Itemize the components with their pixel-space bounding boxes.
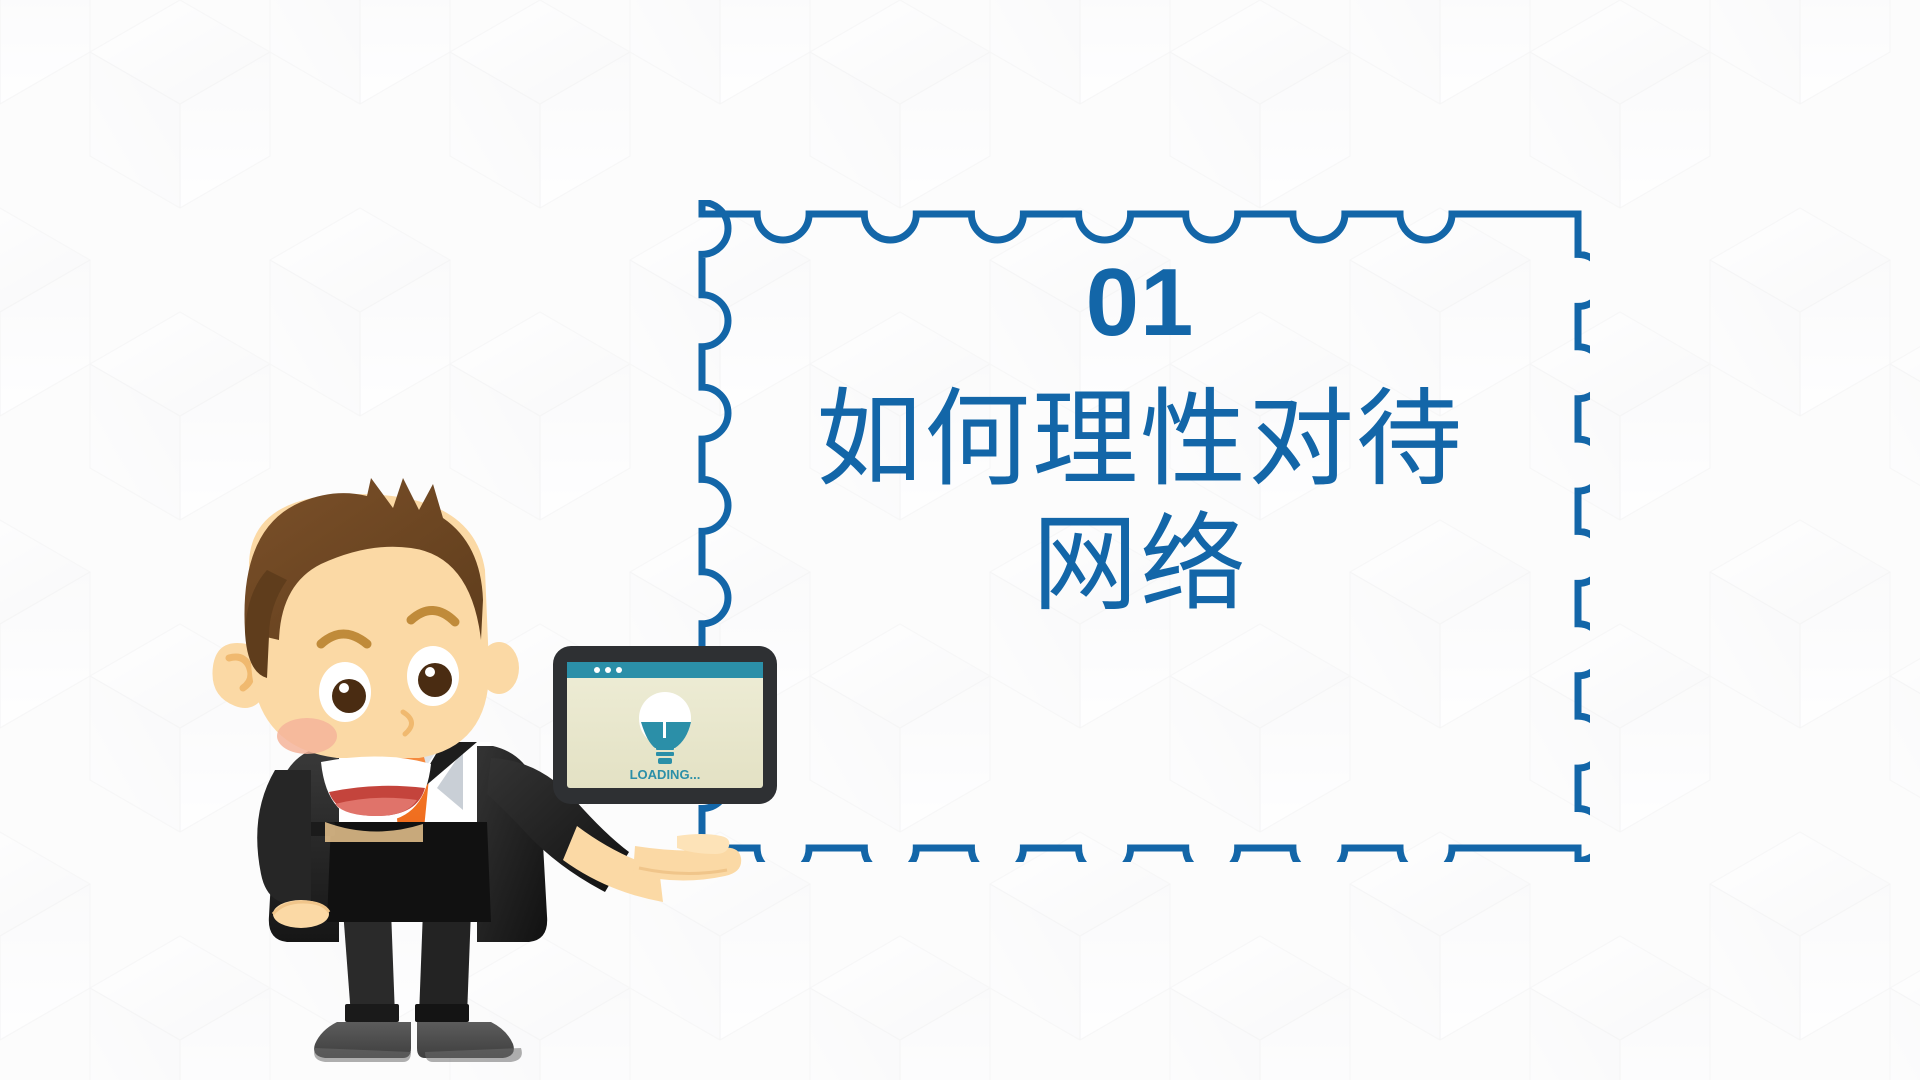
loading-label: LOADING... (630, 767, 701, 782)
browser-dot-icon (605, 667, 611, 673)
eye-left (319, 662, 371, 722)
blush-left (277, 718, 337, 754)
presentation-slide: 01 如何理性对待网络 (0, 0, 1920, 1080)
browser-dot-icon (594, 667, 600, 673)
eye-right (407, 646, 459, 706)
businessman-illustration: LOADING... (205, 470, 825, 1080)
shoes (314, 1022, 522, 1062)
legs (343, 910, 471, 1022)
browser-dot-icon (616, 667, 622, 673)
tablet-device[interactable]: LOADING... (553, 646, 777, 804)
stamp-border-frame (690, 200, 1590, 862)
